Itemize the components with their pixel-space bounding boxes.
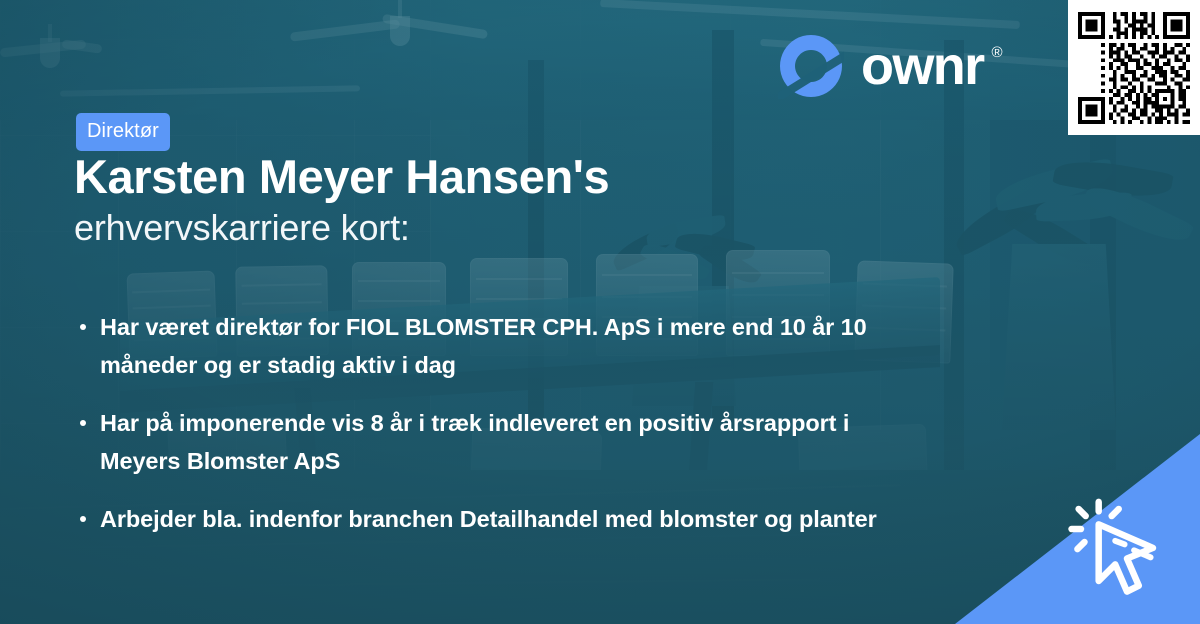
ownr-wordmark-text: ownr	[861, 36, 984, 96]
page-title: Karsten Meyer Hansen's	[74, 152, 609, 203]
click-cursor-icon	[1068, 496, 1186, 614]
list-item: Har været direktør for FIOL BLOMSTER CPH…	[74, 308, 904, 384]
page-subtitle: erhvervskarriere kort:	[74, 208, 410, 248]
list-item: Arbejder bla. indenfor branchen Detailha…	[74, 500, 904, 538]
registered-mark: ®	[992, 45, 1003, 60]
career-card: Direktør Karsten Meyer Hansen's erhvervs…	[0, 0, 1200, 624]
qr-code-icon[interactable]	[1078, 12, 1190, 124]
list-item: Har på imponerende vis 8 år i træk indle…	[74, 404, 904, 480]
ownr-logo: ownr ®	[778, 33, 984, 99]
career-highlights-list: Har været direktør for FIOL BLOMSTER CPH…	[74, 308, 904, 538]
qr-code-panel[interactable]	[1068, 0, 1200, 135]
corner-triangle	[955, 434, 1200, 624]
ownr-wordmark: ownr ®	[861, 39, 984, 93]
role-badge: Direktør	[76, 113, 170, 151]
ownr-circle-slash-icon	[778, 33, 844, 99]
